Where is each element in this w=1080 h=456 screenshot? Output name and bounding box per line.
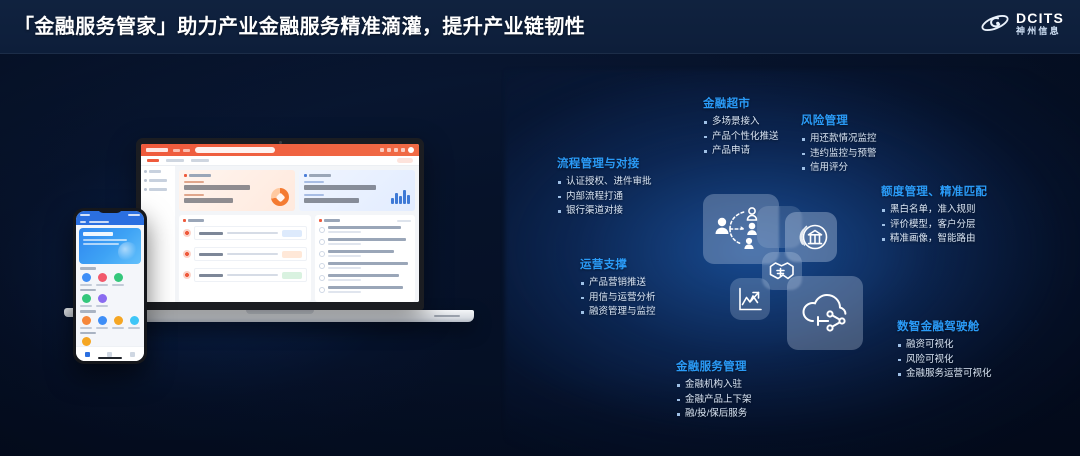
list-item: 用还款情况监控 — [801, 132, 877, 147]
donut-chart-icon — [271, 188, 291, 208]
console-top-bar — [141, 144, 419, 156]
phone-notch — [98, 208, 122, 213]
console-icon-settings[interactable] — [401, 148, 405, 152]
callout-cockpit: 数智金融驾驶舱 融资可视化 风险可视化 金融服务运营可视化 — [897, 318, 992, 382]
list-item: 认证授权、进件审批 — [557, 175, 652, 190]
table-row[interactable] — [183, 268, 307, 282]
laptop-screen — [141, 144, 419, 302]
console-task-panel — [179, 215, 311, 302]
console-panels — [179, 215, 415, 302]
console-icon-help[interactable] — [394, 148, 398, 152]
list-item: 融资可视化 — [897, 338, 992, 353]
list-item: 用信与运营分析 — [580, 291, 656, 306]
list-item: 产品个性化推送 — [703, 130, 779, 145]
laptop-mockup — [136, 138, 424, 310]
callout-risk: 风险管理 用还款情况监控 违约监控与预警 信用评分 — [801, 112, 877, 176]
callout-list: 融资可视化 风险可视化 金融服务运营可视化 — [897, 338, 992, 382]
phone-mockup — [73, 208, 147, 364]
callout-list: 多场景接入 产品个性化推送 产品申请 — [703, 115, 779, 159]
list-item: 黑白名单，准入规则 — [881, 203, 987, 218]
callout-title: 数智金融驾驶舱 — [897, 318, 992, 334]
list-item: 违约监控与预警 — [801, 147, 877, 162]
list-item: 多场景接入 — [703, 115, 779, 130]
callout-title: 风险管理 — [801, 112, 877, 128]
phone-icon-group-1 — [76, 267, 144, 286]
list-item: 融/投/保后服务 — [676, 407, 752, 422]
callout-list: 产品营销推送 用信与运营分析 融资管理与监控 — [580, 276, 656, 320]
phone-icon-group-2 — [76, 289, 144, 308]
console-news-panel — [315, 215, 415, 302]
list-item[interactable] — [319, 250, 411, 257]
galaxy-swirl-icon — [980, 10, 1010, 36]
console-toolbar — [380, 147, 414, 153]
list-item: 精准画像，智能路由 — [881, 232, 987, 247]
console-tab-3[interactable] — [191, 159, 209, 162]
callout-title: 金融超市 — [703, 95, 779, 111]
console-tab-2[interactable] — [166, 159, 184, 162]
callout-title: 流程管理与对接 — [557, 155, 652, 171]
banner-glow — [118, 242, 138, 262]
app-icon[interactable] — [128, 316, 140, 329]
logo-wordmark: DCITS 神州信息 — [1016, 11, 1064, 36]
console-search-input[interactable] — [195, 147, 275, 153]
phone-nav-bar — [76, 218, 144, 225]
list-item: 信用评分 — [801, 161, 877, 176]
app-icon[interactable] — [96, 273, 108, 286]
sidebar-item-2[interactable] — [144, 179, 172, 182]
console-main — [175, 166, 419, 302]
list-item[interactable] — [319, 238, 411, 245]
console-avatar[interactable] — [408, 147, 414, 153]
callout-title: 金融服务管理 — [676, 358, 752, 374]
device-mockup-group — [60, 130, 460, 360]
list-item: 内部流程打通 — [557, 190, 652, 205]
list-item: 金融产品上下架 — [676, 393, 752, 408]
console-logo — [146, 148, 168, 152]
list-item[interactable] — [319, 286, 411, 293]
callout-flow: 流程管理与对接 认证授权、进件审批 内部流程打通 银行渠道对接 — [557, 155, 652, 219]
logo-text-cn: 神州信息 — [1016, 27, 1064, 36]
callout-list: 金融机构入驻 金融产品上下架 融/投/保后服务 — [676, 378, 752, 422]
list-item[interactable] — [319, 274, 411, 281]
list-item: 金融机构入驻 — [676, 378, 752, 393]
app-icon[interactable] — [80, 316, 92, 329]
list-item: 评价模型，客户分层 — [881, 218, 987, 233]
callout-quota: 额度管理、精准匹配 黑白名单，准入规则 评价模型，客户分层 精准画像，智能路由 — [881, 183, 987, 247]
central-icon-cluster — [700, 190, 890, 365]
phone-icon-group-3 — [76, 310, 144, 329]
console-body — [141, 166, 419, 302]
list-item: 产品申请 — [703, 144, 779, 159]
list-item: 金融服务运营可视化 — [897, 367, 992, 382]
slide-canvas: 「金融服务管家」助力产业金融服务精准滴灌，提升产业链韧性 DCITS 神州信息 — [0, 0, 1080, 456]
list-item: 风险可视化 — [897, 353, 992, 368]
callout-list: 用还款情况监控 违约监控与预警 信用评分 — [801, 132, 877, 176]
callout-financial-service: 金融服务管理 金融机构入驻 金融产品上下架 融/投/保后服务 — [676, 358, 752, 422]
page-title: 「金融服务管家」助力产业金融服务精准滴灌，提升产业链韧性 — [14, 10, 585, 39]
app-icon[interactable] — [80, 273, 92, 286]
app-icon[interactable] — [96, 294, 108, 307]
cloud-computing-icon — [787, 276, 863, 350]
header-bar: 「金融服务管家」助力产业金融服务精准滴灌，提升产业链韧性 DCITS 神州信息 — [0, 0, 1080, 54]
app-icon[interactable] — [80, 294, 92, 307]
phone-tab-profile[interactable] — [130, 352, 135, 357]
laptop-foot — [434, 315, 460, 317]
phone-tab-home[interactable] — [85, 352, 90, 357]
growth-chart-icon — [730, 278, 770, 320]
list-item[interactable] — [319, 262, 411, 269]
callout-market: 金融超市 多场景接入 产品个性化推送 产品申请 — [703, 95, 779, 159]
console-menu — [173, 149, 190, 152]
callout-list: 认证授权、进件审批 内部流程打通 银行渠道对接 — [557, 175, 652, 219]
console-tab-active[interactable] — [147, 159, 159, 162]
sidebar-item-1[interactable] — [144, 170, 172, 173]
brand-logo: DCITS 神州信息 — [980, 10, 1064, 36]
stat-card-financing — [179, 170, 295, 211]
bar-chart-icon — [391, 188, 411, 208]
sidebar-item-3[interactable] — [144, 188, 172, 191]
phone-screen — [76, 211, 144, 361]
console-action-pill[interactable] — [397, 158, 413, 163]
callout-operations: 运营支撑 产品营销推送 用信与运营分析 融资管理与监控 — [580, 256, 656, 320]
list-item[interactable] — [319, 226, 411, 233]
callout-list: 黑白名单，准入规则 评价模型，客户分层 精准画像，智能路由 — [881, 203, 987, 247]
phone-tab-service[interactable] — [107, 352, 112, 357]
phone-banner — [79, 228, 141, 264]
list-item: 融资管理与监控 — [580, 305, 656, 320]
callout-title: 运营支撑 — [580, 256, 656, 272]
app-icon[interactable] — [112, 316, 124, 329]
console-stat-cards — [179, 170, 415, 211]
list-item: 银行渠道对接 — [557, 204, 652, 219]
callout-title: 额度管理、精准匹配 — [881, 183, 987, 199]
logo-text-en: DCITS — [1016, 11, 1064, 25]
laptop-notch — [246, 310, 314, 314]
console-icon-bell[interactable] — [387, 148, 391, 152]
app-icon[interactable] — [112, 273, 124, 286]
console-tab-strip — [141, 156, 419, 166]
stat-card-products — [299, 170, 415, 211]
phone-home-indicator — [98, 357, 122, 359]
table-row[interactable] — [183, 247, 307, 261]
console-icon-grid[interactable] — [380, 148, 384, 152]
app-icon[interactable] — [96, 316, 108, 329]
table-row[interactable] — [183, 226, 307, 240]
list-item: 产品营销推送 — [580, 276, 656, 291]
